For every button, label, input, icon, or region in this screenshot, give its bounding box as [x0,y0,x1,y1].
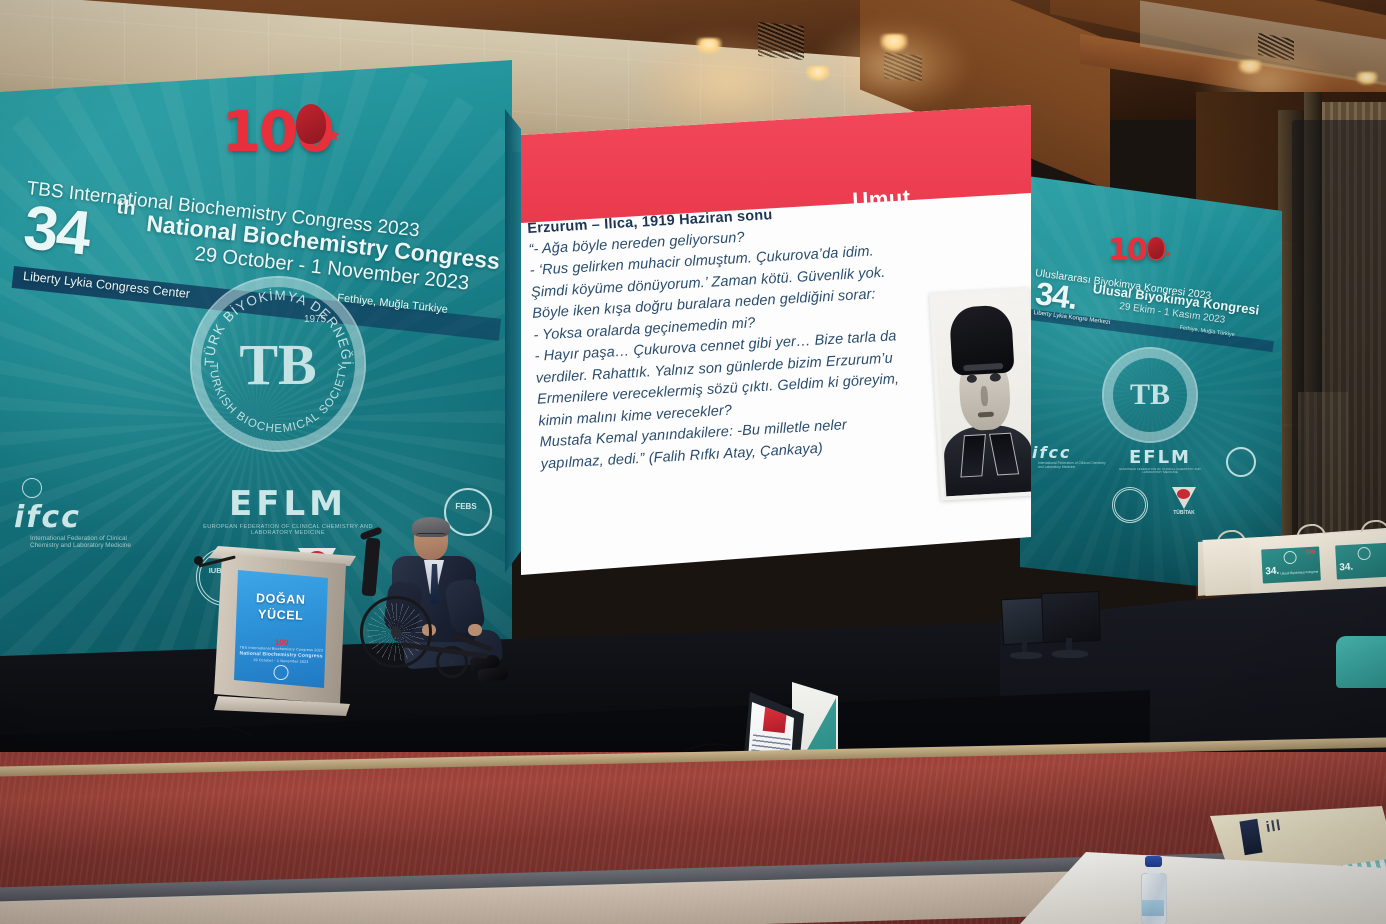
projection-slide: Umut Erzurum – Ilıca, 1919 Haziran sonu … [511,105,1031,575]
sponsor-eflm-right-name: EFLM [1112,447,1208,468]
ceiling-downlight-1 [696,38,722,54]
ceiling-vent-2 [884,52,922,81]
bag-label-text: Ulusal Biyokimya Kongresi [1280,569,1318,575]
tubitak-tulip-icon-right [1177,489,1190,499]
bag-label-100: 100 [1305,550,1315,557]
bag-label-number: 34. [1265,566,1279,578]
monitor-screen-right [1041,591,1101,643]
ceiling-downlight-2 [806,66,830,81]
portrait-collar-left [961,434,987,478]
ataturk-silhouette-icon [296,104,326,144]
bag-label-number-2: 34. [1339,562,1353,574]
sponsor-ifcc-right-name: ifcc [1032,443,1106,462]
seal-monogram: TB [230,316,326,412]
ceiling-downlight-5 [1356,72,1378,85]
confidence-monitor-right [1042,592,1110,660]
bag-label-seal-icon-2 [1357,547,1371,561]
caster-hub [450,660,454,664]
ataturk-silhouette-icon-right [1148,237,1164,259]
backdrop-banner-right: 100 ★ Uluslararası Biyokimya Kongresi 20… [1020,175,1282,595]
tote-bag-text: ill [1265,817,1283,836]
podium-seal-icon [273,665,289,681]
presenter-hand-right [468,624,482,636]
podium-name-screen: DOĞAN YÜCEL 100 TBS International Bioche… [234,570,328,688]
presenter-shoe-2 [477,666,508,682]
portrait-mouth [977,412,994,418]
sponsor-ifcc: ifcc International Federation of Clinica… [14,478,154,550]
wheelchair-wheel-rear [360,596,432,668]
sponsor-ifcc-name: ifcc [14,500,154,535]
conference-hall-photo: 100 ★ TBS International Biochemistry Con… [0,0,1386,924]
sponsor-ifcc-sub: International Federation of Clinical Che… [14,535,154,550]
slide-screen-edge [505,103,521,579]
globe-icon-ifcc [22,478,42,498]
gift-bag-label-2: 34. [1335,543,1386,580]
wheel-hub [391,627,400,636]
portrait-nose [981,386,989,406]
bottle-label [1142,900,1164,916]
monitor-foot-left [1010,652,1042,659]
microphone-icon [194,556,203,565]
teal-chair [1336,636,1386,688]
sponsor-eflm-right: EFLM EUROPEAN FEDERATION OF CLINICAL CHE… [1112,447,1208,475]
ceiling-downlight-4 [1238,60,1262,74]
bottle-cap [1145,856,1162,867]
bag-label-seal-icon [1283,551,1297,565]
star-icon-right: ★ [1164,249,1172,260]
bottle-neck [1147,866,1160,874]
podium-speaker-name-line2: YÜCEL [258,607,304,624]
podium-speaker-name-line1: DOĞAN [256,591,306,608]
tablet-red-flag-graphic [763,705,788,733]
seal-monogram-right: TB [1124,369,1176,421]
sponsor-eflm-sub: EUROPEAN FEDERATION OF CLINICAL CHEMISTR… [200,524,376,537]
sponsor-eflm-right-sub: EUROPEAN FEDERATION OF CLINICAL CHEMISTR… [1112,468,1208,475]
podium-footer: 100 TBS International Biochemistry Congr… [233,636,328,682]
tbd-society-seal: TÜRK BİYOKİMYA DERNEĞİ TURKISH BIOCHEMIC… [190,276,366,452]
sponsor-febs-name: FEBS [444,502,488,511]
lectern-podium: DOĞAN YÜCEL 100 TBS International Bioche… [208,540,356,718]
ceiling-downlight-3 [880,34,908,52]
portrait-eye-left [966,374,977,383]
sponsor-tubitak-right-name: TÜBİTAK [1162,510,1206,516]
bottle-body [1141,873,1167,924]
banner-left-number: 34 [20,192,92,270]
tbd-society-seal-right: TB [1102,347,1198,443]
portrait-eye-right [990,373,1001,382]
portrait-image [933,292,1036,497]
gift-bag-label-1: 100 34. Ulusal Biyokimya Kongresi [1261,547,1321,584]
febs-ring-icon-right [1226,447,1256,477]
ataturk-portrait-photo [929,287,1040,500]
sponsor-eflm-name: EFLM [200,484,376,524]
ceiling-vent-1 [758,22,804,60]
monitor-foot-right [1052,650,1088,658]
water-bottle [1140,856,1166,924]
star-icon-left: ★ [326,126,341,146]
sponsor-ifcc-right-sub: International Federation of Clinical Che… [1032,462,1106,470]
eyeglasses-icon [416,533,446,540]
sponsor-ifcc-right: ifcc International Federation of Clinica… [1032,443,1106,470]
iubmb-globe-icon-right [1112,487,1148,523]
banner-left-ordinal: th [116,196,137,221]
sponsor-eflm: EFLM EUROPEAN FEDERATION OF CLINICAL CHE… [200,484,376,537]
